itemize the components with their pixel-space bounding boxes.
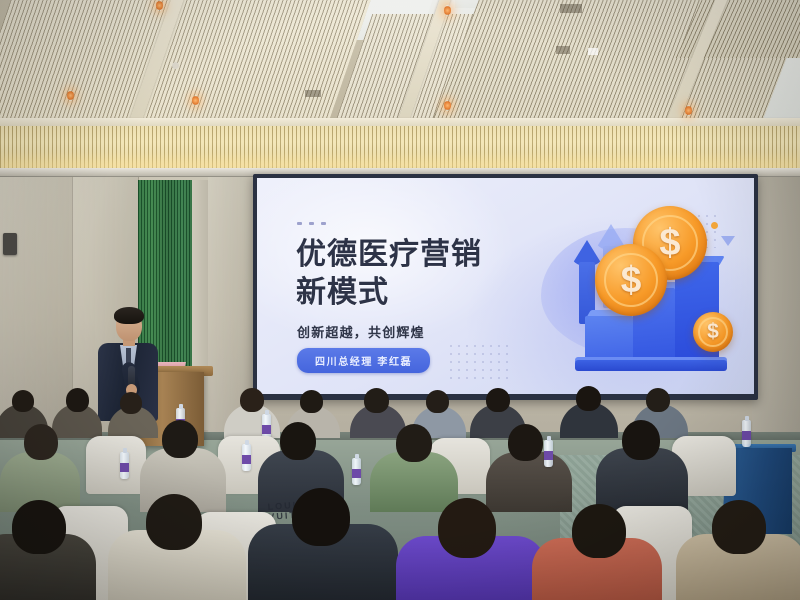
attendee-head [300,390,323,413]
presentation-slide[interactable]: 优德医疗营销 新模式 创新超越，共创辉煌 四川总经理 李红磊 [257,178,754,394]
accent-dot [309,222,314,225]
banquet-chair [86,436,146,494]
ceiling-slat-panel [0,0,372,124]
accent-dot [321,222,326,225]
cove-light-glow [0,150,800,170]
ceiling-vent [560,4,582,13]
ceiling-spotlight [685,105,692,116]
dollar-coin-icon: $ [693,312,733,352]
attendee-head [162,420,198,458]
water-bottle [742,420,751,447]
presenter-hair [114,307,144,324]
attendee-head [364,388,389,413]
chart-base [575,360,727,371]
attendee-head [280,422,316,460]
attendee-head [146,494,202,550]
attendee-head [486,388,510,412]
conference-photo: 优德医疗营销 新模式 创新超越，共创辉煌 四川总经理 李红磊 [0,0,800,600]
water-bottle [544,440,553,467]
ceiling-spotlight [444,100,451,111]
ceiling-spotlight [192,95,199,106]
ceiling-spotlight [67,90,74,101]
attendee-head [396,424,432,462]
water-bottle [242,444,251,471]
attendee-head [646,388,670,412]
ceiling-spotlight [444,5,451,16]
wall-panel-right [752,177,800,437]
attendee-head [572,504,626,558]
ceiling-spotlight [156,0,163,11]
diamond-icon [721,236,735,246]
attendee-head [426,390,449,413]
attendee-head [622,420,660,460]
attendee-head [120,392,142,414]
slide-presenter-badge: 四川总经理 李红磊 [297,348,430,373]
slide-illustration: $ $ $ [533,200,745,380]
wall-panel [0,177,73,437]
attendee-head [24,424,58,460]
slide-accent-dots [297,222,326,225]
wall-speaker-icon [3,233,17,255]
ceiling-sprinkler [172,62,179,69]
accent-dot [297,222,302,225]
ceiling-vent [556,46,570,54]
ceiling-vent [305,90,321,97]
attendee-head [12,390,34,412]
attendee-head [66,388,89,412]
dollar-coin-icon: $ [595,244,667,316]
attendee-head [292,488,350,546]
spark-dot [711,222,718,229]
attendee-head [508,424,543,461]
attendee-head [438,498,496,558]
attendee-head [12,500,66,554]
ceiling-smoke-detector [588,48,598,55]
water-bottle [120,452,129,479]
attendee-head [240,388,264,412]
attendee-head [712,500,766,554]
slide-subtitle: 创新超越，共创辉煌 [297,322,425,341]
attendee-body [486,452,572,512]
attendee-head [576,386,601,411]
water-bottle [352,458,361,485]
slide-dot-grid-decor [447,342,513,382]
